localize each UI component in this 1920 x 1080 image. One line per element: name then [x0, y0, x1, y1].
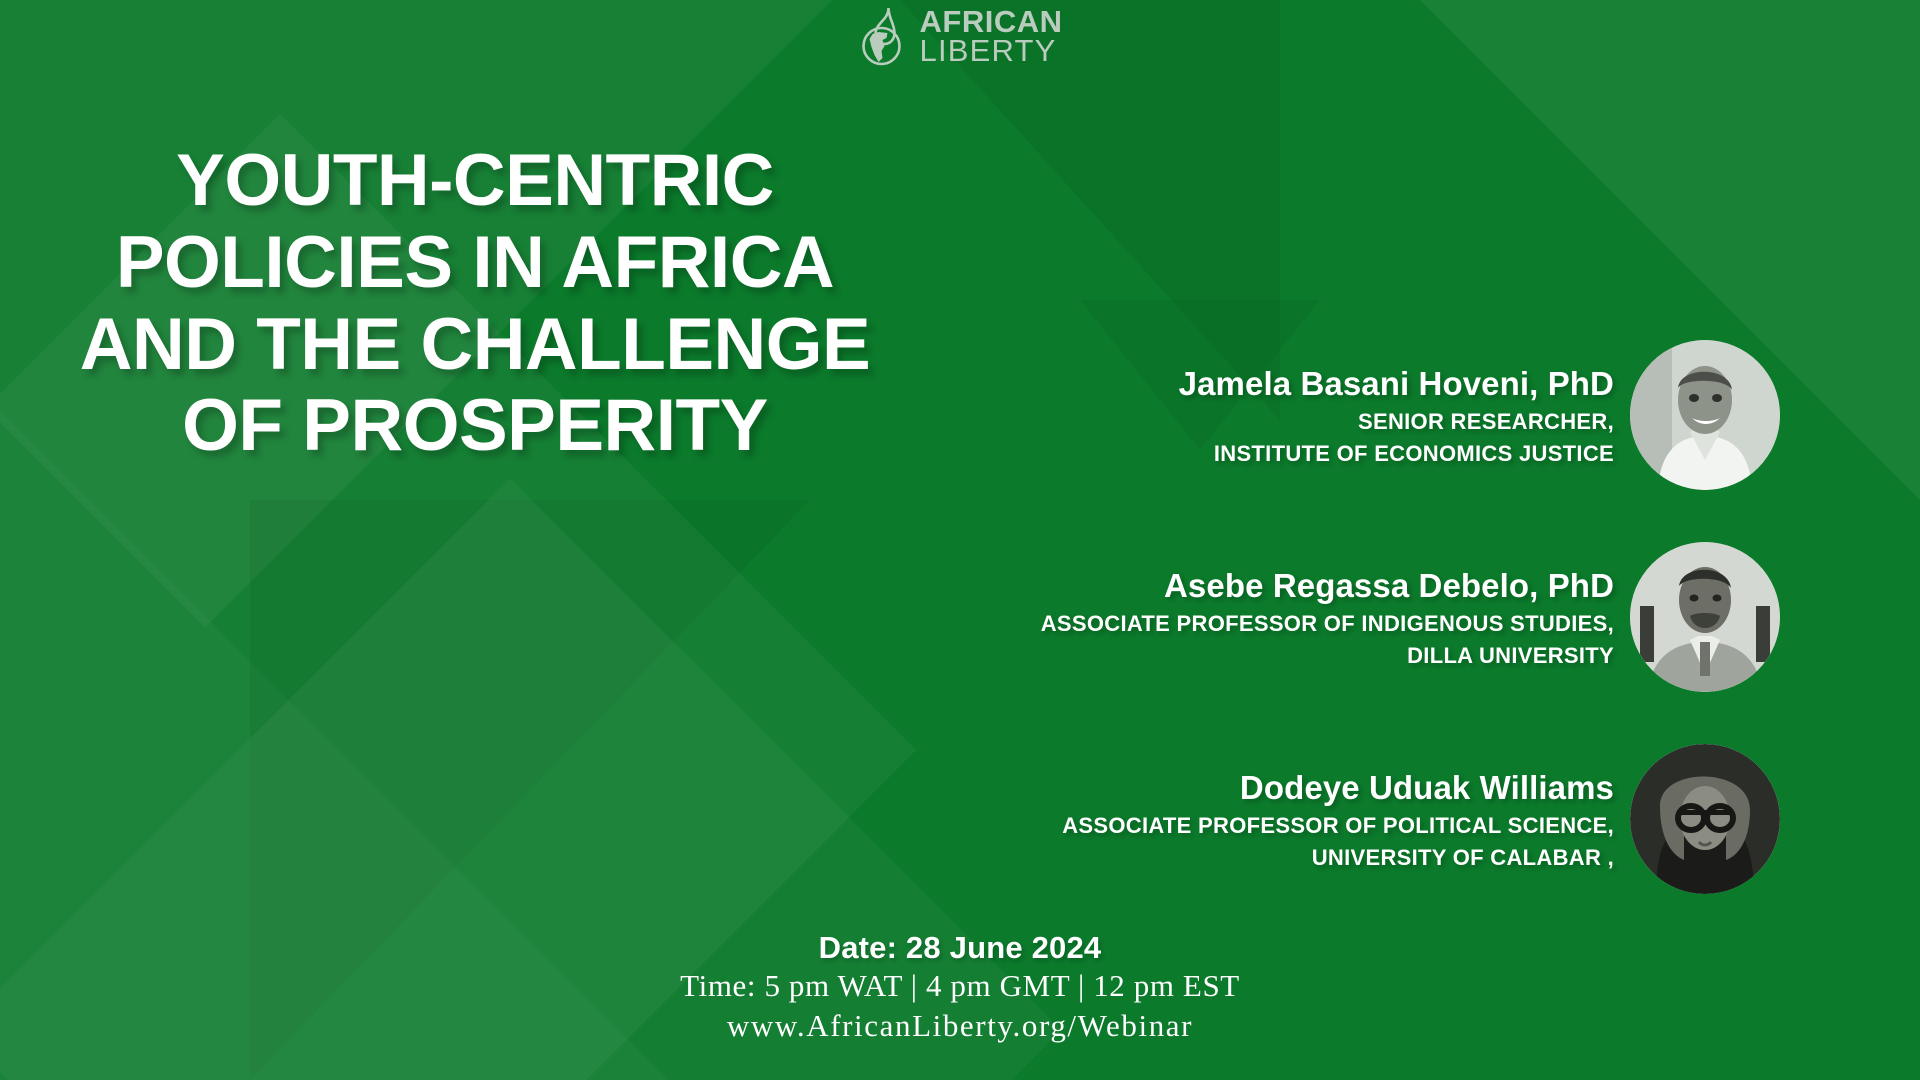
speaker-role-line-2: DILLA UNIVERSITY: [1041, 642, 1614, 670]
page-title: YOUTH-CENTRIC POLICIES IN AFRICA AND THE…: [0, 140, 950, 467]
event-time: Time: 5 pm WAT | 4 pm GMT | 12 pm EST: [0, 966, 1920, 1006]
event-url[interactable]: www.AfricanLiberty.org/Webinar: [0, 1006, 1920, 1046]
speaker-role-line-2: INSTITUTE OF ECONOMICS JUSTICE: [1179, 440, 1614, 468]
title-line-4: OF PROSPERITY: [0, 385, 950, 467]
speaker-role-line-2: UNIVERSITY OF CALABAR ,: [1062, 844, 1614, 872]
avatar: [1630, 542, 1780, 692]
avatar: [1630, 744, 1780, 894]
african-liberty-logo: AFRICAN LIBERTY: [858, 6, 1063, 68]
speaker-details: Asebe Regassa Debelo, PhD ASSOCIATE PROF…: [1041, 565, 1630, 669]
event-details: Date: 28 June 2024 Time: 5 pm WAT | 4 pm…: [0, 930, 1920, 1045]
speaker-role-line-1: ASSOCIATE PROFESSOR OF POLITICAL SCIENCE…: [1062, 812, 1614, 840]
speaker-row: Jamela Basani Hoveni, PhD SENIOR RESEARC…: [900, 340, 1780, 490]
title-line-2: POLICIES IN AFRICA: [0, 222, 950, 304]
speaker-row: Asebe Regassa Debelo, PhD ASSOCIATE PROF…: [900, 542, 1780, 692]
speaker-role-line-1: ASSOCIATE PROFESSOR OF INDIGENOUS STUDIE…: [1041, 610, 1614, 638]
title-line-3: AND THE CHALLENGE: [0, 304, 950, 386]
logo-text-liberty: LIBERTY: [920, 37, 1063, 66]
avatar: [1630, 340, 1780, 490]
speaker-details: Dodeye Uduak Williams ASSOCIATE PROFESSO…: [1062, 767, 1630, 871]
speaker-name: Jamela Basani Hoveni, PhD: [1179, 363, 1614, 404]
webinar-poster: AFRICAN LIBERTY YOUTH-CENTRIC POLICIES I…: [0, 0, 1920, 1080]
speaker-details: Jamela Basani Hoveni, PhD SENIOR RESEARC…: [1179, 363, 1630, 467]
speaker-row: Dodeye Uduak Williams ASSOCIATE PROFESSO…: [900, 744, 1780, 894]
speaker-name: Asebe Regassa Debelo, PhD: [1041, 565, 1614, 606]
speaker-name: Dodeye Uduak Williams: [1062, 767, 1614, 808]
speaker-role-line-1: SENIOR RESEARCHER,: [1179, 408, 1614, 436]
event-date: Date: 28 June 2024: [0, 930, 1920, 966]
title-line-1: YOUTH-CENTRIC: [0, 140, 950, 222]
speaker-list: Jamela Basani Hoveni, PhD SENIOR RESEARC…: [900, 340, 1780, 946]
africa-flame-icon: [858, 6, 914, 68]
